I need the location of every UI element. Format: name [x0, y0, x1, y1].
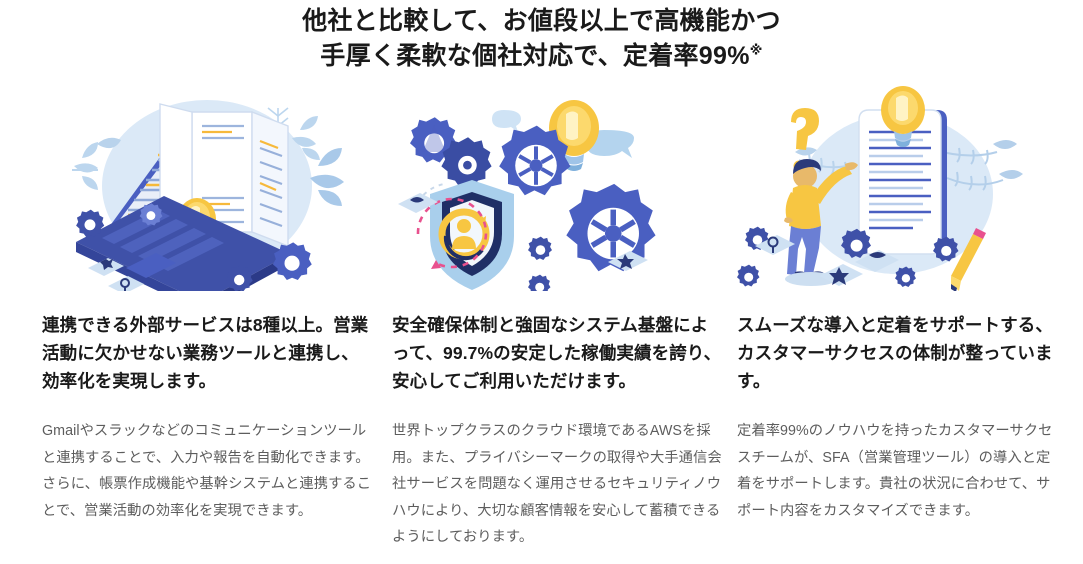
feature-column-customer-success: スムーズな導入と定着をサポートする、カスタマーサクセスの体制が整っています。 定…	[737, 86, 1057, 564]
feature-title: スムーズな導入と定着をサポートする、カスタマーサクセスの体制が整っています。	[737, 311, 1057, 395]
leaf-decoration	[72, 142, 98, 190]
headline-line-2-main: 手厚く柔軟な個社対応で、定着率99%	[320, 42, 749, 70]
gear-icon	[528, 275, 551, 291]
feature-column-integrations: 連携できる外部サービスは8種以上。営業活動に欠かせない業務ツールと連携し、効率化…	[42, 86, 373, 564]
gears-shield-security-illustration	[392, 86, 723, 291]
feature-highlights-section: 他社と比較して、お値段以上で高機能かつ 手厚く柔軟な個社対応で、定着率99%※	[0, 0, 1083, 563]
headline-line-1: 他社と比較して、お値段以上で高機能かつ	[0, 4, 1083, 39]
feature-body: 世界トップクラスのクラウド環境であるAWSを採用。また、プライバシーマークの取得…	[392, 418, 723, 551]
speech-bubble-icon	[492, 110, 521, 132]
feature-body: Gmailやスラックなどのコミュニケーションツールと連携することで、入力や報告を…	[42, 418, 373, 524]
gear-icon	[737, 265, 760, 287]
person-document-support-illustration	[737, 86, 1057, 291]
shield-icon	[414, 180, 514, 290]
feature-body: 定着率99%のノウハウを持ったカスタマーサクセスチームが、SFA（営業管理ツール…	[737, 418, 1057, 524]
gear-icon	[76, 210, 104, 237]
page-title: 他社と比較して、お値段以上で高機能かつ 手厚く柔軟な個社対応で、定着率99%※	[0, 4, 1083, 74]
feature-columns: 連携できる外部サービスは8種以上。営業活動に欠かせない業務ツールと連携し、効率化…	[0, 86, 1083, 564]
headline-footnote-mark: ※	[750, 43, 763, 58]
feature-column-security: 安全確保体制と強固なシステム基盤によって、99.7%の安定した稼働実績を誇り、安…	[392, 86, 723, 564]
laptop-book-lightbulb-illustration	[42, 86, 373, 291]
feature-title: 安全確保体制と強固なシステム基盤によって、99.7%の安定した稼働実績を誇り、安…	[392, 311, 723, 395]
gear-icon	[528, 237, 552, 260]
headline-line-2: 手厚く柔軟な個社対応で、定着率99%※	[0, 39, 1083, 74]
feature-title: 連携できる外部サービスは8種以上。営業活動に欠かせない業務ツールと連携し、効率化…	[42, 311, 373, 395]
